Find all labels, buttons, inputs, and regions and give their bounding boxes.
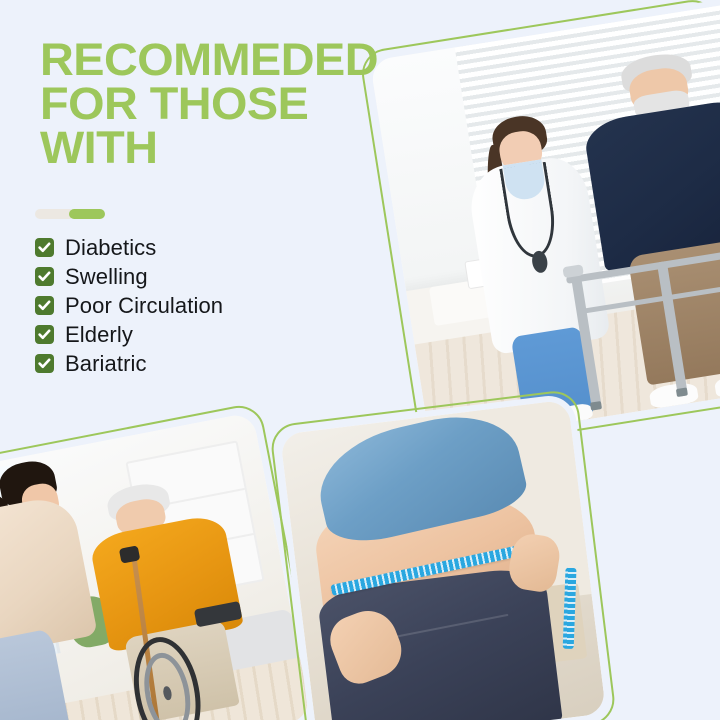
list-item-label: Elderly bbox=[65, 324, 133, 346]
divider-segment-green bbox=[69, 209, 105, 219]
photo-waist-measuring bbox=[269, 388, 618, 720]
check-icon bbox=[35, 354, 54, 373]
page-title: RECOMMEDED FOR THOSE WITH bbox=[40, 38, 456, 170]
list-item: Elderly bbox=[35, 320, 223, 349]
list-item: Bariatric bbox=[35, 349, 223, 378]
headline-line-1: RECOMMEDED bbox=[40, 38, 456, 82]
figure-torso bbox=[292, 409, 583, 720]
headline-line-3: WITH bbox=[40, 126, 456, 170]
check-icon bbox=[35, 267, 54, 286]
list-item-label: Bariatric bbox=[65, 353, 147, 375]
check-icon bbox=[35, 296, 54, 315]
list-item: Swelling bbox=[35, 262, 223, 291]
list-item-label: Poor Circulation bbox=[65, 295, 223, 317]
list-item-label: Swelling bbox=[65, 266, 148, 288]
divider bbox=[35, 209, 105, 219]
list-item-label: Diabetics bbox=[65, 237, 156, 259]
infographic-canvas: RECOMMEDED FOR THOSE WITH Diabetics Swel… bbox=[0, 0, 720, 720]
divider-segment-beige bbox=[35, 209, 71, 219]
photo-plate bbox=[280, 400, 606, 720]
check-icon bbox=[35, 325, 54, 344]
check-icon bbox=[35, 238, 54, 257]
list-item: Diabetics bbox=[35, 233, 223, 262]
photo-image bbox=[280, 400, 606, 720]
checklist: Diabetics Swelling Poor Circulation Elde… bbox=[35, 233, 223, 378]
list-item: Poor Circulation bbox=[35, 291, 223, 320]
headline-line-2: FOR THOSE bbox=[40, 82, 456, 126]
